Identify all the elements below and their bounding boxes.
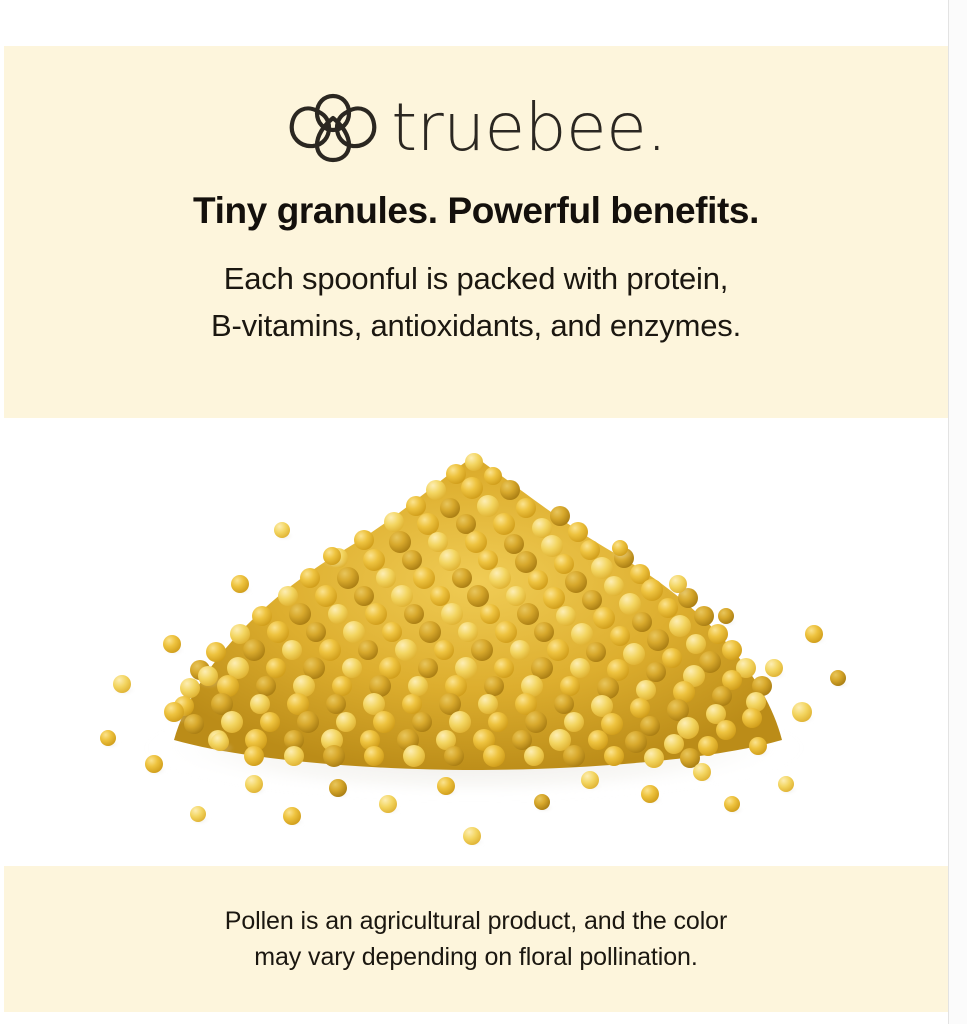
caption-line-1: Pollen is an agricultural product, and t… — [225, 903, 727, 939]
subheadline-line-1: Each spoonful is packed with protein, — [211, 255, 741, 302]
content-column: truebee. Tiny granules. Powerful benefit… — [4, 0, 948, 1024]
pollen-photo — [4, 418, 948, 866]
headline: Tiny granules. Powerful benefits. — [193, 190, 759, 233]
brand-logo[interactable]: truebee. — [285, 90, 667, 166]
right-gutter — [948, 0, 967, 1024]
header-band: truebee. Tiny granules. Powerful benefit… — [4, 46, 948, 418]
bee-petal-logo-mark — [285, 92, 381, 164]
product-infographic-page: truebee. Tiny granules. Powerful benefit… — [0, 0, 967, 1024]
subheadline: Each spoonful is packed with protein, B-… — [211, 255, 741, 349]
pollen-pile-illustration — [4, 418, 948, 866]
caption-line-2: may vary depending on floral pollination… — [225, 939, 727, 975]
bottom-white-strip — [4, 1012, 948, 1024]
brand-wordmark: truebee. — [391, 95, 667, 161]
subheadline-line-2: B-vitamins, antioxidants, and enzymes. — [211, 302, 741, 349]
photo-caption: Pollen is an agricultural product, and t… — [225, 903, 727, 976]
caption-band: Pollen is an agricultural product, and t… — [4, 866, 948, 1012]
product-photo-band — [4, 418, 948, 866]
